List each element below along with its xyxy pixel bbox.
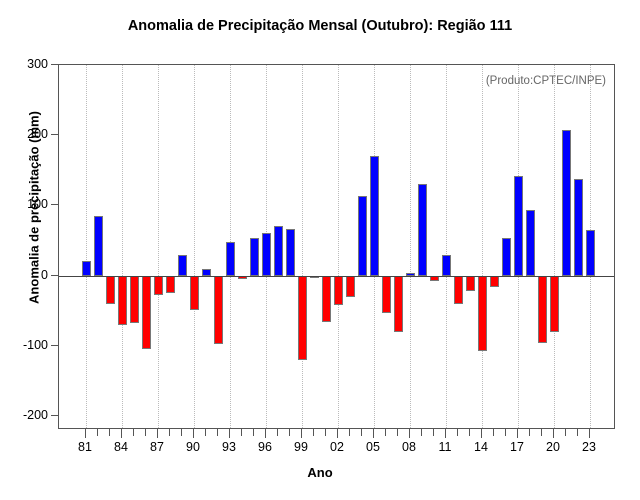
x-axis-tick-mark: [265, 429, 266, 438]
x-axis-tick-mark: [409, 429, 410, 438]
x-axis-ticks: 818487909396990205081114172023: [0, 0, 640, 500]
x-axis-tick-label: 93: [222, 440, 236, 454]
x-axis-tick-label: 87: [150, 440, 164, 454]
x-axis-tick-mark: [85, 429, 86, 438]
x-axis-title: Ano: [0, 465, 640, 480]
x-axis-tick-mark: [373, 429, 374, 438]
x-axis-tick-mark: [205, 429, 206, 436]
x-axis-tick-mark: [253, 429, 254, 436]
x-axis-tick-mark: [529, 429, 530, 436]
x-axis-tick-mark: [361, 429, 362, 436]
chart-root: Anomalia de Precipitação Mensal (Outubro…: [0, 0, 640, 500]
x-axis-tick-mark: [433, 429, 434, 436]
y-axis-tick-mark: [51, 204, 58, 205]
x-axis-tick-label: 23: [582, 440, 596, 454]
x-axis-tick-mark: [145, 429, 146, 436]
x-axis-tick-mark: [133, 429, 134, 436]
x-axis-tick-mark: [505, 429, 506, 436]
x-axis-tick-label: 90: [186, 440, 200, 454]
x-axis-tick-label: 99: [294, 440, 308, 454]
x-axis-tick-mark: [325, 429, 326, 436]
x-axis-tick-mark: [169, 429, 170, 436]
y-axis-tick-mark: [51, 275, 58, 276]
x-axis-tick-label: 14: [474, 440, 488, 454]
x-axis-tick-mark: [481, 429, 482, 438]
x-axis-tick-mark: [457, 429, 458, 436]
x-axis-tick-label: 84: [114, 440, 128, 454]
x-axis-tick-mark: [541, 429, 542, 436]
x-axis-tick-mark: [109, 429, 110, 436]
x-axis-tick-mark: [301, 429, 302, 438]
x-axis-tick-mark: [493, 429, 494, 436]
x-axis-tick-mark: [289, 429, 290, 436]
x-axis-tick-label: 96: [258, 440, 272, 454]
x-axis-tick-mark: [97, 429, 98, 436]
x-axis-tick-label: 05: [366, 440, 380, 454]
x-axis-tick-mark: [313, 429, 314, 436]
x-axis-tick-mark: [421, 429, 422, 436]
x-axis-tick-label: 81: [78, 440, 92, 454]
y-axis-tick-mark: [51, 345, 58, 346]
x-axis-tick-mark: [121, 429, 122, 438]
x-axis-tick-mark: [349, 429, 350, 436]
x-axis-tick-mark: [337, 429, 338, 438]
x-axis-tick-mark: [229, 429, 230, 438]
x-axis-tick-mark: [241, 429, 242, 436]
x-axis-tick-mark: [565, 429, 566, 436]
x-axis-tick-mark: [157, 429, 158, 438]
y-axis-tick-mark: [51, 415, 58, 416]
y-axis-tick-mark: [51, 64, 58, 65]
x-axis-tick-mark: [385, 429, 386, 436]
x-axis-tick-label: 20: [546, 440, 560, 454]
x-axis-tick-mark: [217, 429, 218, 436]
x-axis-tick-label: 08: [402, 440, 416, 454]
x-axis-tick-mark: [553, 429, 554, 438]
x-axis-tick-label: 11: [439, 440, 452, 454]
x-axis-tick-mark: [517, 429, 518, 438]
y-axis-tick-mark: [51, 134, 58, 135]
x-axis-tick-mark: [577, 429, 578, 436]
x-axis-tick-mark: [277, 429, 278, 436]
x-axis-tick-mark: [397, 429, 398, 436]
x-axis-tick-label: 02: [330, 440, 344, 454]
x-axis-tick-label: 17: [510, 440, 524, 454]
x-axis-tick-mark: [181, 429, 182, 436]
x-axis-tick-mark: [589, 429, 590, 438]
x-axis-tick-mark: [193, 429, 194, 438]
x-axis-tick-mark: [445, 429, 446, 438]
x-axis-tick-mark: [469, 429, 470, 436]
